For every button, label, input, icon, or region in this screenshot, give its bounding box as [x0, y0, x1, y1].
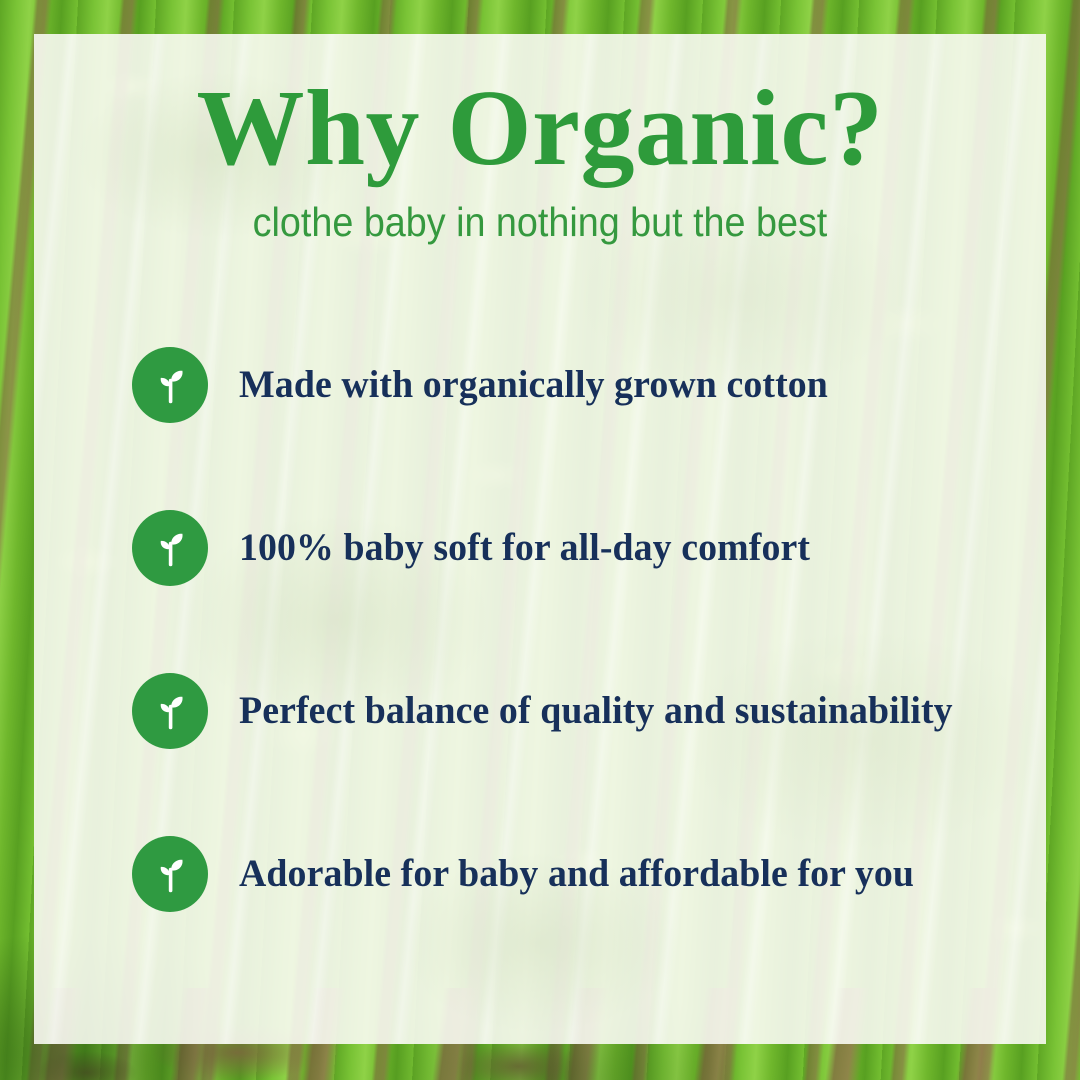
benefit-label: Perfect balance of quality and sustainab… — [239, 690, 953, 733]
benefit-label: Adorable for baby and affordable for you — [239, 853, 914, 896]
page-title: Why Organic? — [34, 72, 1046, 186]
list-item: 100% baby soft for all-day comfort — [132, 510, 1022, 586]
sprout-icon — [132, 673, 208, 749]
benefit-label: Made with organically grown cotton — [239, 364, 828, 407]
list-item: Made with organically grown cotton — [132, 347, 1022, 423]
sprout-icon — [132, 510, 208, 586]
content-panel: Why Organic? clothe baby in nothing but … — [34, 34, 1046, 1044]
list-item: Perfect balance of quality and sustainab… — [132, 673, 1022, 749]
benefit-label: 100% baby soft for all-day comfort — [239, 527, 810, 570]
list-item: Adorable for baby and affordable for you — [132, 836, 1022, 912]
page-subtitle: clothe baby in nothing but the best — [74, 198, 1005, 247]
organic-promo-poster: Why Organic? clothe baby in nothing but … — [0, 0, 1080, 1080]
sprout-icon — [132, 836, 208, 912]
sprout-icon — [132, 347, 208, 423]
benefit-list: Made with organically grown cotton 100% … — [132, 347, 1022, 912]
